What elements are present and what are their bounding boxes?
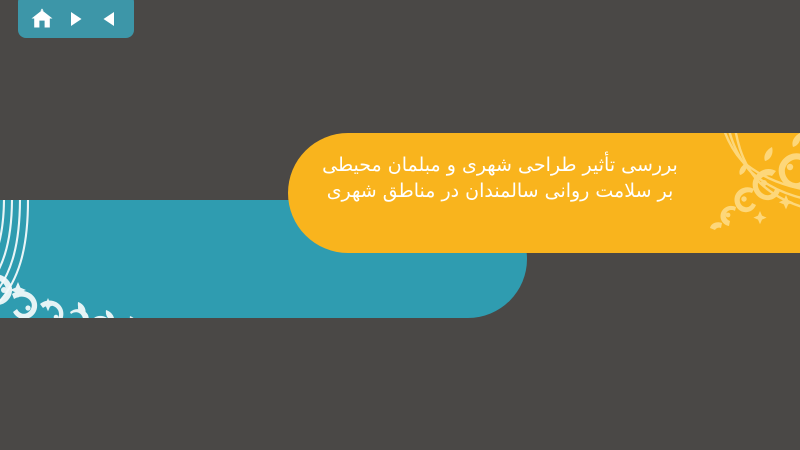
slide-navigation-toolbar: [18, 0, 134, 38]
next-arrow-icon: [66, 9, 86, 29]
slide-title-line-2: بر سلامت روانی سالمندان در مناطق شهری: [300, 178, 700, 204]
next-slide-button[interactable]: [62, 6, 90, 32]
slide-canvas: بررسی تأثیر طراحی شهری و مبلمان محیطی بر…: [0, 0, 800, 450]
home-button[interactable]: [28, 6, 56, 32]
slide-title: بررسی تأثیر طراحی شهری و مبلمان محیطی بر…: [300, 152, 700, 204]
arabesque-ornament-icon: [0, 200, 170, 318]
home-icon: [30, 8, 54, 30]
slide-title-line-1: بررسی تأثیر طراحی شهری و مبلمان محیطی: [300, 152, 700, 178]
previous-arrow-icon: [100, 9, 120, 29]
previous-slide-button[interactable]: [96, 6, 124, 32]
